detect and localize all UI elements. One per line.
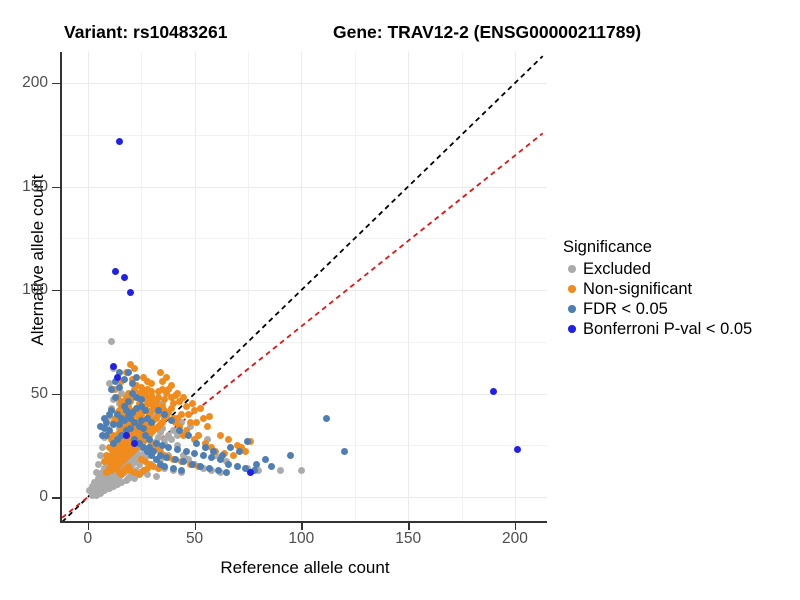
y-axis-tick (52, 394, 60, 395)
y-axis-tick-label: 100 (22, 281, 48, 299)
y-axis-tick-label-wrap: 100 (0, 281, 48, 299)
x-axis-tick-label: 50 (165, 530, 225, 548)
legend-key-dot-icon (563, 260, 581, 278)
legend-swatch (568, 285, 576, 293)
legend-title: Significance (563, 238, 798, 257)
data-point (116, 138, 123, 145)
plot-panel-clip (60, 52, 547, 522)
x-axis-tick-label: 200 (485, 530, 545, 548)
legend-items: ExcludedNon-significantFDR < 0.05Bonferr… (563, 259, 798, 339)
data-point (110, 363, 117, 370)
legend-item-bonferroni-p-val-0-05[interactable]: Bonferroni P-val < 0.05 (563, 319, 798, 339)
y-axis-tick (52, 290, 60, 291)
x-axis-tick (195, 522, 196, 530)
x-axis-tick (515, 522, 516, 530)
data-point (514, 446, 521, 453)
data-point (247, 469, 254, 476)
y-axis-tick-label: 50 (31, 385, 48, 403)
x-axis-tick-label-wrap: 200 (485, 530, 545, 550)
data-point (112, 268, 119, 275)
legend-item-fdr-0-05[interactable]: FDR < 0.05 (563, 299, 798, 319)
y-axis-tick (52, 83, 60, 84)
legend-key-dot-icon (563, 320, 581, 338)
y-axis-line (60, 52, 62, 522)
y-axis-tick-label: 150 (22, 178, 48, 196)
y-axis-tick-label: 200 (22, 74, 48, 92)
y-axis-tick (52, 497, 60, 498)
y-axis-tick-label-wrap: 50 (0, 385, 48, 403)
legend-swatch (568, 305, 576, 313)
legend-item-non-significant[interactable]: Non-significant (563, 279, 798, 299)
legend-label: Excluded (583, 260, 651, 279)
y-axis-tick-label-wrap: 0 (0, 488, 48, 506)
legend: Significance ExcludedNon-significantFDR … (563, 238, 798, 339)
data-point (121, 274, 128, 281)
data-point (131, 440, 138, 447)
x-axis-tick (88, 522, 89, 530)
figure-title-row: Variant: rs10483261 Gene: TRAV12-2 (ENSG… (0, 22, 800, 48)
legend-swatch (568, 265, 576, 273)
data-point (123, 432, 130, 439)
x-axis-tick (301, 522, 302, 530)
x-axis-tick-label-wrap: 100 (271, 530, 331, 550)
x-axis-tick-label-wrap: 0 (58, 530, 118, 550)
legend-label: Bonferroni P-val < 0.05 (583, 320, 752, 339)
x-axis-line (60, 521, 547, 523)
x-axis-title: Reference allele count (85, 558, 525, 578)
x-axis-tick-label-wrap: 150 (378, 530, 438, 550)
scatter-plot-figure: Variant: rs10483261 Gene: TRAV12-2 (ENSG… (0, 0, 800, 600)
gene-title: Gene: TRAV12-2 (ENSG00000211789) (333, 22, 641, 43)
data-point (114, 374, 121, 381)
legend-item-excluded[interactable]: Excluded (563, 259, 798, 279)
variant-title: Variant: rs10483261 (64, 22, 227, 43)
y-axis-tick (52, 187, 60, 188)
x-axis-tick (408, 522, 409, 530)
x-axis-tick-label-wrap: 50 (165, 530, 225, 550)
data-point (490, 388, 497, 395)
data-point (127, 289, 134, 296)
x-axis-tick-label: 0 (58, 530, 118, 548)
legend-label: FDR < 0.05 (583, 300, 668, 319)
y-axis-tick-label-wrap: 200 (0, 74, 48, 92)
y-axis-title: Alternative allele count (28, 130, 48, 390)
series-bonferroni-p-val-0-05 (60, 52, 547, 522)
legend-label: Non-significant (583, 280, 692, 299)
legend-key-dot-icon (563, 280, 581, 298)
legend-swatch (568, 325, 576, 333)
x-axis-tick-label: 150 (378, 530, 438, 548)
y-axis-tick-label: 0 (39, 488, 48, 506)
plot-panel (60, 52, 547, 522)
y-axis-tick-label-wrap: 150 (0, 178, 48, 196)
legend-key-dot-icon (563, 300, 581, 318)
x-axis-tick-label: 100 (271, 530, 331, 548)
